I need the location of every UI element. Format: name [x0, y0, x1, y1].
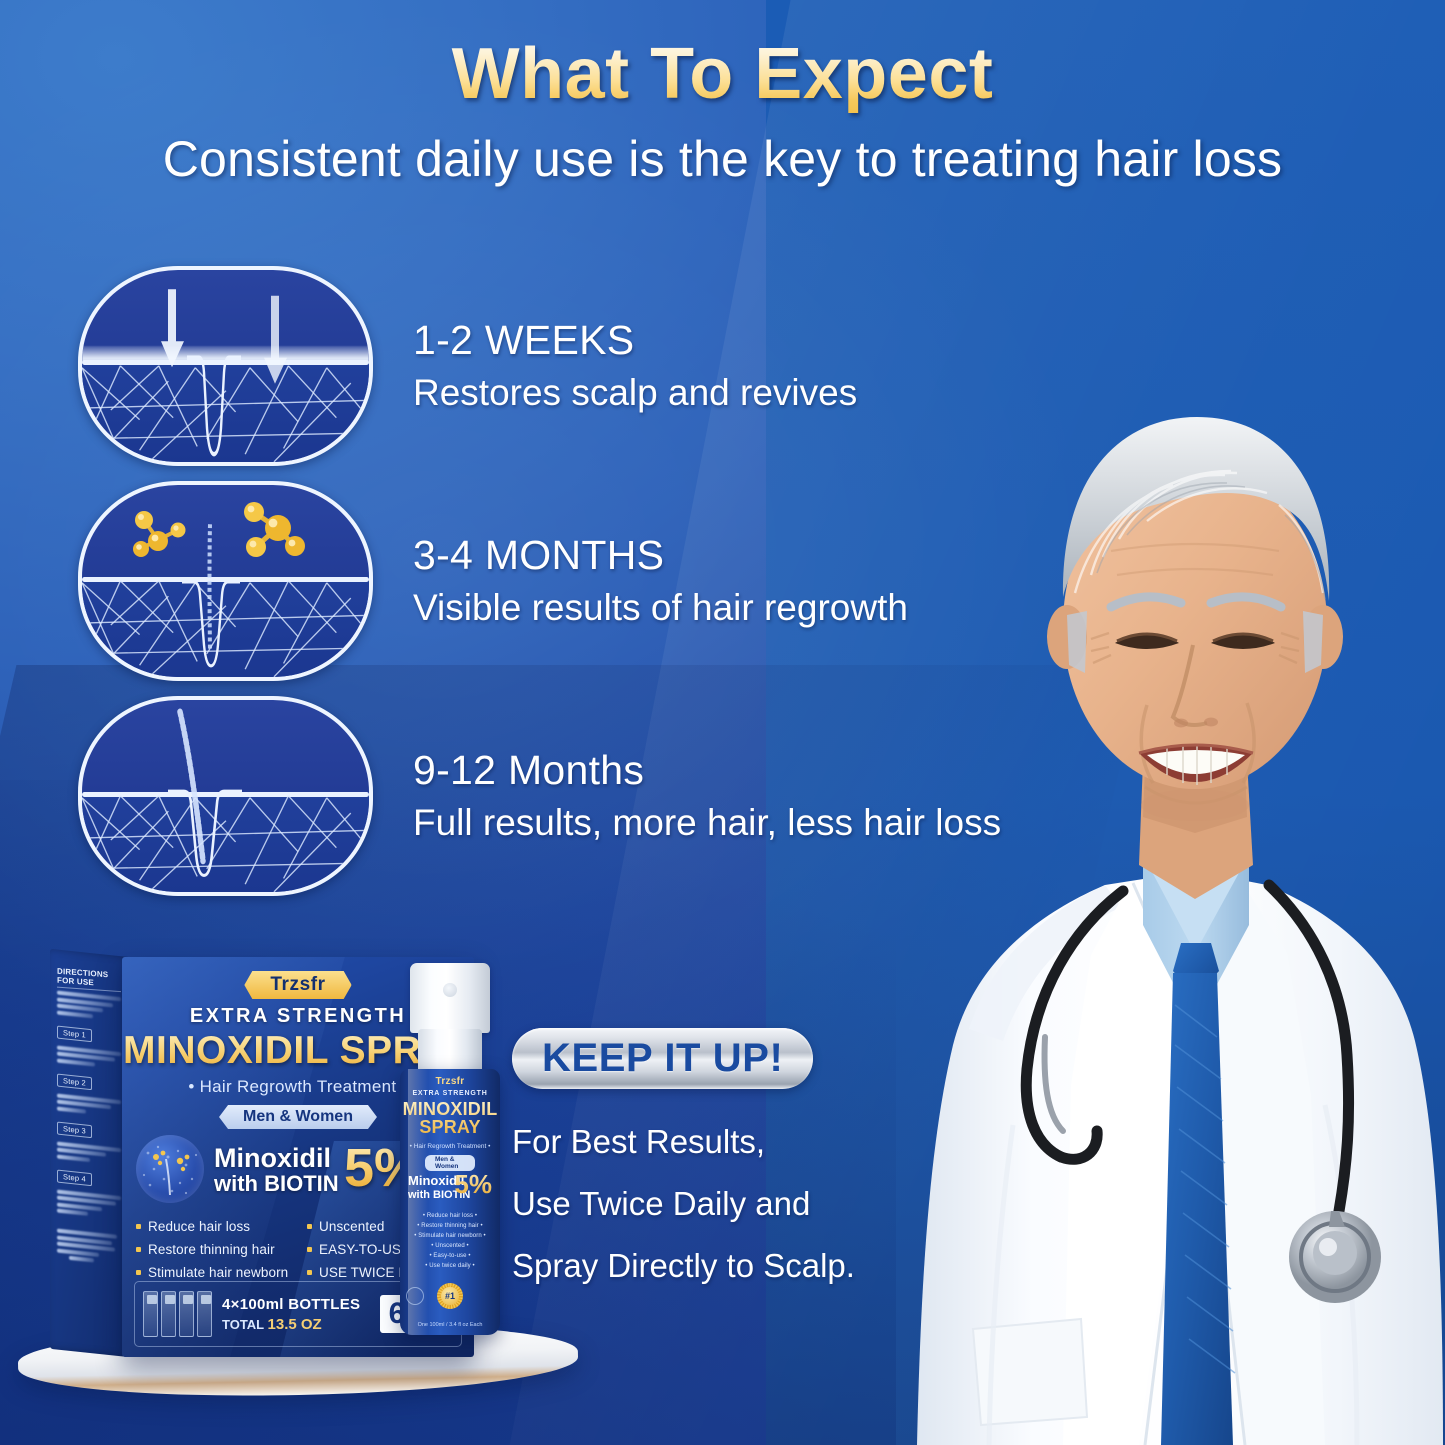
product-package: DIRECTIONS FOR USE Step 1 Step 2 Step 3 …: [50, 937, 570, 1357]
page-title: What To Expect: [0, 36, 1445, 114]
keep-it-up-label: KEEP IT UP!: [542, 1036, 783, 1080]
directions-step: Step 2: [57, 1074, 92, 1091]
bottle-benefit: • Restore thinning hair •: [400, 1223, 500, 1229]
timeline-text: 1-2 WEEKS Restores scalp and revives: [413, 317, 857, 414]
bottle-treatment: • Hair Regrowth Treatment •: [400, 1143, 500, 1150]
audience-label: Men & Women: [219, 1105, 377, 1129]
rank-badge-icon: #1: [437, 1283, 463, 1309]
header: What To Expect Consistent daily use is t…: [0, 36, 1445, 187]
bottle-percent: 5%: [454, 1169, 492, 1200]
bottle-benefit: • Stimulate hair newborn •: [400, 1233, 500, 1239]
doctor-head: [1047, 417, 1343, 821]
page-subtitle: Consistent daily use is the key to treat…: [0, 132, 1445, 187]
benefit-item: Reduce hair loss: [136, 1219, 293, 1234]
scalp-closeup-icon: [136, 1135, 204, 1203]
timeline-text: 9-12 Months Full results, more hair, les…: [413, 747, 1001, 844]
contents-text: 4×100ml BOTTLES TOTAL 13.5 OZ: [222, 1296, 360, 1333]
total-value: 13.5 OZ: [268, 1316, 322, 1333]
benefits-left-column: Reduce hair loss Restore thinning hair S…: [136, 1219, 293, 1288]
timeline-row: 9-12 Months Full results, more hair, les…: [78, 688, 1078, 903]
timeline-description: Restores scalp and revives: [413, 372, 857, 414]
bottle-certification-icon: [406, 1287, 424, 1305]
expectation-timeline: 1-2 WEEKS Restores scalp and revives: [78, 258, 1078, 903]
bottle-brand: Trzsfr: [400, 1076, 500, 1087]
timeline-description: Visible results of hair regrowth: [413, 587, 908, 629]
total-label: TOTAL: [222, 1317, 264, 1332]
bottle-benefit: • Use twice daily •: [400, 1263, 500, 1269]
bottles-count: 4×100ml BOTTLES: [222, 1296, 360, 1313]
directions-step: Step 1: [57, 1026, 92, 1043]
timeline-label: 1-2 WEEKS: [413, 317, 857, 364]
bottle-name-line2: SPRAY: [419, 1117, 480, 1137]
benefit-item: Stimulate hair newborn: [136, 1265, 293, 1280]
bottle-extra-strength: EXTRA STRENGTH: [400, 1090, 500, 1097]
timeline-row: 1-2 WEEKS Restores scalp and revives: [78, 258, 1078, 473]
scalp-molecules-icon: [78, 481, 373, 681]
timeline-label: 3-4 MONTHS: [413, 532, 908, 579]
keep-it-up-badge: KEEP IT UP!: [512, 1028, 813, 1089]
bottle-benefits: • Reduce hair loss • • Restore thinning …: [400, 1213, 500, 1273]
keep-it-up-block: KEEP IT UP! For Best Results, Use Twice …: [512, 1028, 932, 1309]
brand-name: Trzsfr: [244, 971, 351, 999]
usage-line: Spray Directly to Scalp.: [512, 1247, 932, 1285]
timeline-row: 3-4 MONTHS Visible results of hair regro…: [78, 473, 1078, 688]
bottle-volume-footer: One 100ml / 3.4 fl oz Each: [400, 1322, 500, 1328]
ingredient-name: Minoxidil: [214, 1143, 331, 1174]
scalp-absorption-icon: [78, 266, 373, 466]
rank-badge-label: #1: [445, 1291, 455, 1301]
scalp-hair-growth-icon: [78, 696, 373, 896]
bottle-cap: [410, 963, 490, 1033]
bottle-icon: [179, 1291, 194, 1337]
timeline-description: Full results, more hair, less hair loss: [413, 802, 1001, 844]
bottle-icons: [143, 1291, 212, 1337]
spray-bottle: Trzsfr EXTRA STRENGTH MINOXIDIL SPRAY • …: [398, 963, 502, 1335]
usage-line: For Best Results,: [512, 1123, 932, 1161]
ingredient-sub: with BIOTIN: [214, 1171, 339, 1197]
bottle-product-name: MINOXIDIL SPRAY: [400, 1101, 500, 1136]
bottle-benefit: • Easy-to-use •: [400, 1253, 500, 1259]
usage-instructions: For Best Results, Use Twice Daily and Sp…: [512, 1123, 932, 1285]
bottle-icon: [161, 1291, 176, 1337]
directions-step: Step 4: [57, 1170, 92, 1187]
bottle-label: Trzsfr EXTRA STRENGTH MINOXIDIL SPRAY • …: [400, 1069, 500, 1335]
timeline-label: 9-12 Months: [413, 747, 1001, 794]
benefit-item: Restore thinning hair: [136, 1242, 293, 1257]
total-volume: TOTAL 13.5 OZ: [222, 1316, 360, 1333]
bottle-benefit: • Reduce hair loss •: [400, 1213, 500, 1219]
bottle-benefit: • Unscented •: [400, 1243, 500, 1249]
bottle-icon: [143, 1291, 158, 1337]
directions-heading: DIRECTIONS FOR USE: [57, 967, 121, 992]
box-side-panel: DIRECTIONS FOR USE Step 1 Step 2 Step 3 …: [50, 949, 128, 1357]
usage-line: Use Twice Daily and: [512, 1185, 932, 1223]
timeline-text: 3-4 MONTHS Visible results of hair regro…: [413, 532, 908, 629]
directions-step: Step 3: [57, 1122, 92, 1139]
bottle-icon: [197, 1291, 212, 1337]
